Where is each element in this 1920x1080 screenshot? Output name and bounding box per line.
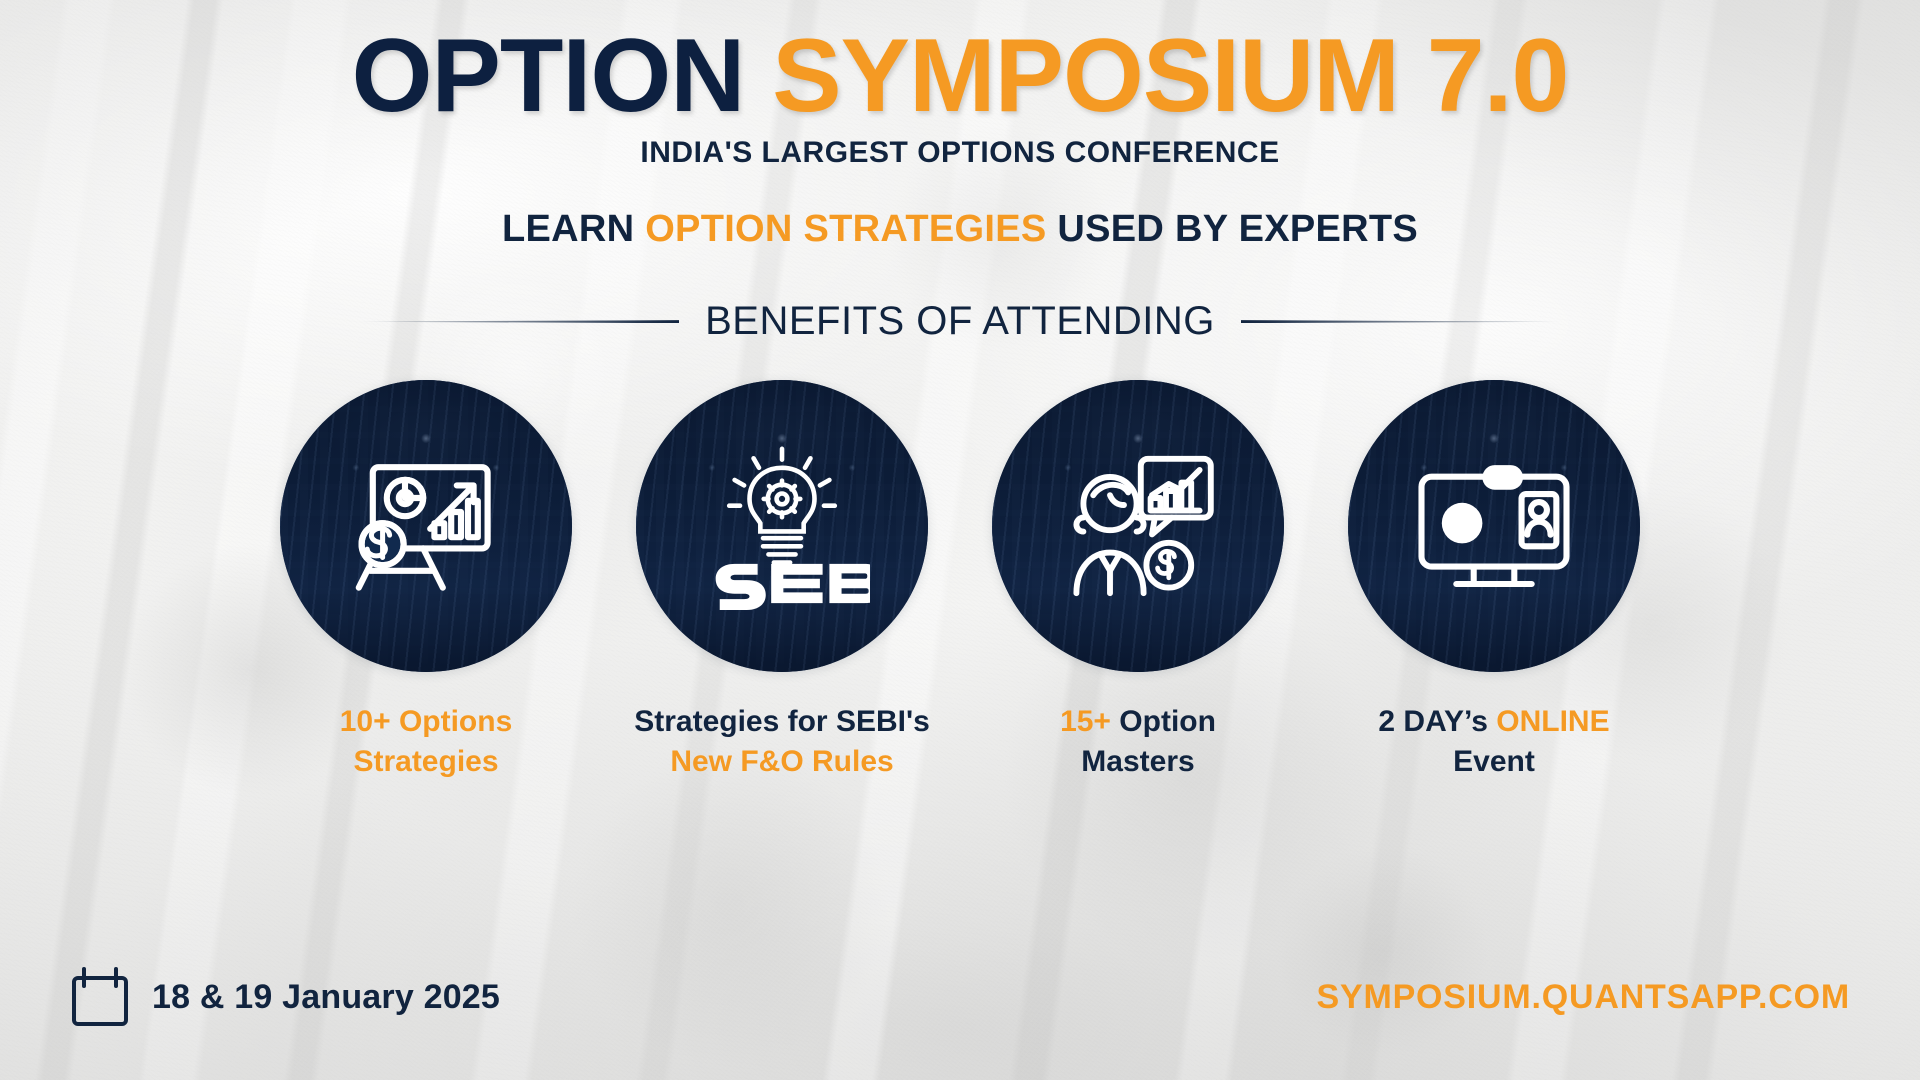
benefit-item: 15+ Option Masters xyxy=(988,380,1288,781)
benefits-list: 10+ Options Strategies xyxy=(0,380,1920,781)
benefit-caption: Strategies for SEBI's New F&O Rules xyxy=(634,702,930,781)
benefit-caption-line1-prefix: 15+ xyxy=(1060,705,1111,738)
tagline-prefix: LEARN xyxy=(502,208,634,250)
benefit-item: 2 DAY’s ONLINE Event xyxy=(1344,380,1644,781)
event-website[interactable]: SYMPOSIUM.QUANTSAPP.COM xyxy=(1317,978,1851,1017)
divider-line-left xyxy=(359,320,679,323)
benefit-caption-line1-prefix: 2 DAY’s xyxy=(1378,705,1488,738)
tagline-accent: OPTION STRATEGIES xyxy=(645,208,1046,250)
benefit-icon-circle xyxy=(992,380,1284,672)
benefit-icon-circle xyxy=(636,380,928,672)
benefit-icon-circle xyxy=(280,380,572,672)
sebi-lightbulb-icon xyxy=(694,438,870,614)
benefits-heading: BENEFITS OF ATTENDING xyxy=(705,299,1215,344)
sebi-wordmark xyxy=(716,564,870,610)
calendar-icon xyxy=(70,966,130,1028)
poster-footer: 18 & 19 January 2025 SYMPOSIUM.QUANTSAPP… xyxy=(0,966,1920,1028)
benefits-divider: BENEFITS OF ATTENDING xyxy=(0,299,1920,344)
presentation-chart-icon xyxy=(342,442,510,610)
benefit-item: Strategies for SEBI's New F&O Rules xyxy=(632,380,932,781)
online-webinar-icon xyxy=(1407,439,1581,613)
expert-speaker-icon xyxy=(1054,442,1222,610)
benefit-caption-line1-suffix: Option xyxy=(1119,705,1216,738)
benefit-caption: 15+ Option Masters xyxy=(1060,702,1216,781)
poster-page: OPTION SYMPOSIUM 7.0 INDIA'S LARGEST OPT… xyxy=(0,0,1920,1080)
tagline-suffix: USED BY EXPERTS xyxy=(1057,208,1418,250)
benefit-icon-circle xyxy=(1348,380,1640,672)
divider-line-right xyxy=(1241,320,1561,323)
benefit-caption: 10+ Options Strategies xyxy=(340,702,513,781)
event-date-group: 18 & 19 January 2025 xyxy=(70,966,500,1028)
benefit-caption-line1: 10+ Options xyxy=(340,705,513,738)
event-date: 18 & 19 January 2025 xyxy=(152,978,500,1017)
event-title-primary: OPTION xyxy=(352,18,745,134)
event-tagline: LEARN OPTION STRATEGIES USED BY EXPERTS xyxy=(0,208,1920,251)
benefit-item: 10+ Options Strategies xyxy=(276,380,576,781)
event-title-accent: SYMPOSIUM 7.0 xyxy=(772,18,1568,134)
benefit-caption-line1-suffix: ONLINE xyxy=(1496,705,1609,738)
event-title: OPTION SYMPOSIUM 7.0 xyxy=(0,0,1920,130)
benefit-caption: 2 DAY’s ONLINE Event xyxy=(1378,702,1609,781)
benefit-caption-line2: Strategies xyxy=(353,745,498,778)
benefit-caption-line2: Masters xyxy=(1081,745,1194,778)
benefit-caption-line2: Event xyxy=(1453,745,1535,778)
benefit-caption-line1: Strategies for SEBI's xyxy=(634,705,930,738)
benefit-caption-line2: New F&O Rules xyxy=(670,745,893,778)
event-subtitle: INDIA'S LARGEST OPTIONS CONFERENCE xyxy=(0,136,1920,170)
